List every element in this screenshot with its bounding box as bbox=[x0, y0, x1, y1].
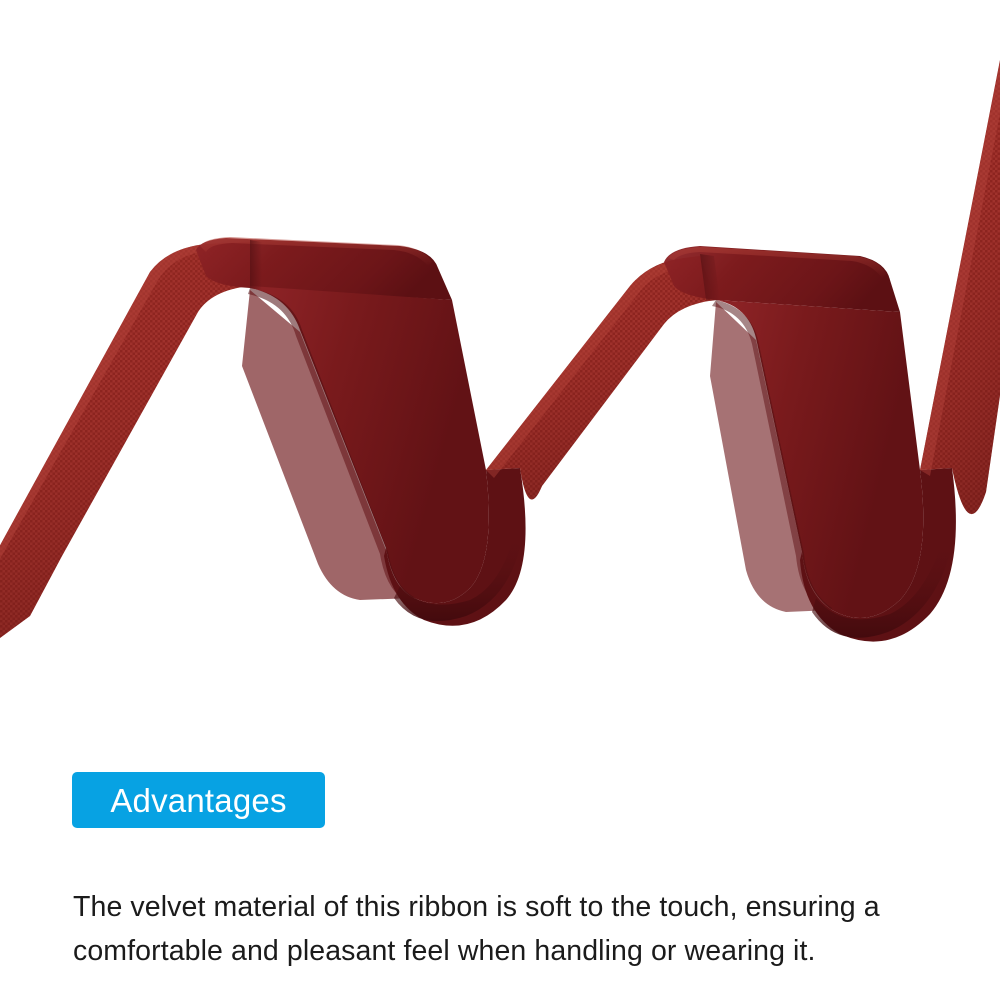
advantages-badge-label: Advantages bbox=[110, 784, 286, 817]
fold-shadow-peak-one bbox=[250, 240, 262, 290]
product-hero-image bbox=[0, 0, 1000, 740]
velvet-ribbon-illustration bbox=[0, 0, 1000, 740]
description-line-1: The velvet material of this ribbon is so… bbox=[73, 885, 953, 929]
advantages-description: The velvet material of this ribbon is so… bbox=[73, 885, 953, 973]
description-line-2: comfortable and pleasant feel when handl… bbox=[73, 929, 953, 973]
advantages-badge: Advantages bbox=[72, 772, 325, 828]
product-detail-page: Advantages The velvet material of this r… bbox=[0, 0, 1000, 1000]
